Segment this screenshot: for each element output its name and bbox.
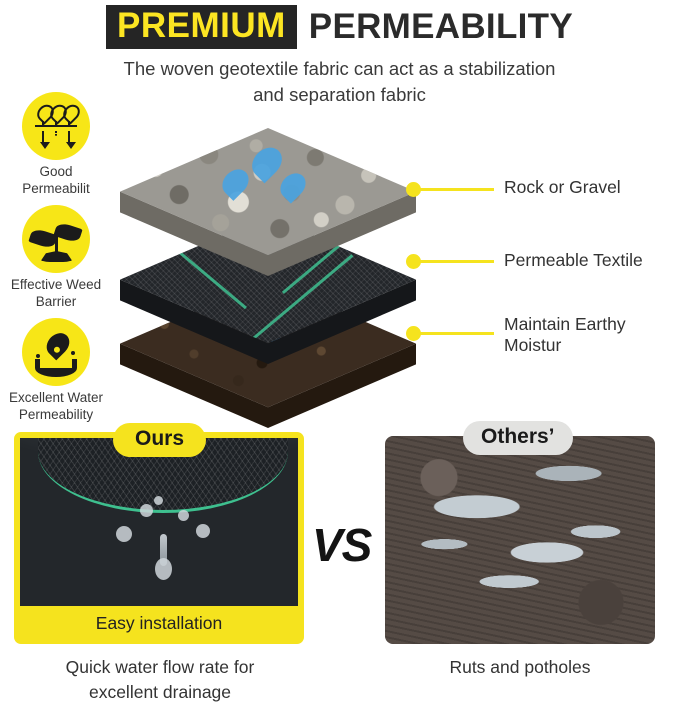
feature-label-line-2: Permeability [2, 406, 110, 423]
callout-label-line-2: Moistur [504, 334, 561, 356]
feature-label-line-2: Permeabilit [2, 180, 110, 197]
sprout-weed-barrier-icon [22, 205, 90, 273]
feature-good-permeability: Good Permeabilit [0, 92, 112, 197]
feature-label-line-1: Good [2, 163, 110, 180]
ours-caption-line-1: Quick water flow rate for [10, 655, 310, 680]
layer-diagram [120, 128, 420, 428]
ours-caption: Quick water flow rate for excellent drai… [10, 655, 310, 705]
ours-panel: Easy installation [14, 432, 304, 644]
page-title: PREMIUM PERMEABILITY [0, 4, 679, 50]
rock-gravel-layer [120, 128, 416, 276]
callout-label: Rock or Gravel [504, 176, 621, 198]
feature-label: Good Permeabilit [0, 163, 112, 197]
feature-label: Effective Weed Barrier [0, 276, 112, 310]
subtitle-line-1: The woven geotextile fabric can act as a… [0, 56, 679, 82]
water-permeability-icon [22, 92, 90, 160]
ours-strip-label: Easy installation [17, 606, 301, 641]
others-photo [385, 436, 655, 644]
water-drop-absorb-icon [22, 318, 90, 386]
feature-weed-barrier: Effective Weed Barrier [0, 205, 112, 310]
feature-list: Good Permeabilit Effective Weed Barrier … [0, 92, 112, 431]
badge-ours: Ours [113, 423, 206, 457]
badge-others: Others’ [463, 421, 573, 455]
ours-caption-line-2: excellent drainage [10, 680, 310, 705]
feature-label-line-2: Barrier [2, 293, 110, 310]
callout-label: Permeable Textile [504, 249, 643, 271]
others-caption: Ruts and potholes [380, 655, 660, 680]
callout-label: Maintain Earthy [504, 313, 626, 335]
vs-label: VS [312, 518, 371, 572]
feature-label: Excellent Water Permeability [0, 389, 112, 423]
feature-excellent-water-permeability: Excellent Water Permeability [0, 318, 112, 423]
feature-label-line-1: Excellent Water [2, 389, 110, 406]
feature-label-line-1: Effective Weed [2, 276, 110, 293]
others-caption-line-1: Ruts and potholes [380, 655, 660, 680]
ours-photo [20, 438, 298, 606]
title-rest: PERMEABILITY [309, 10, 573, 44]
premium-badge: PREMIUM [106, 5, 297, 49]
